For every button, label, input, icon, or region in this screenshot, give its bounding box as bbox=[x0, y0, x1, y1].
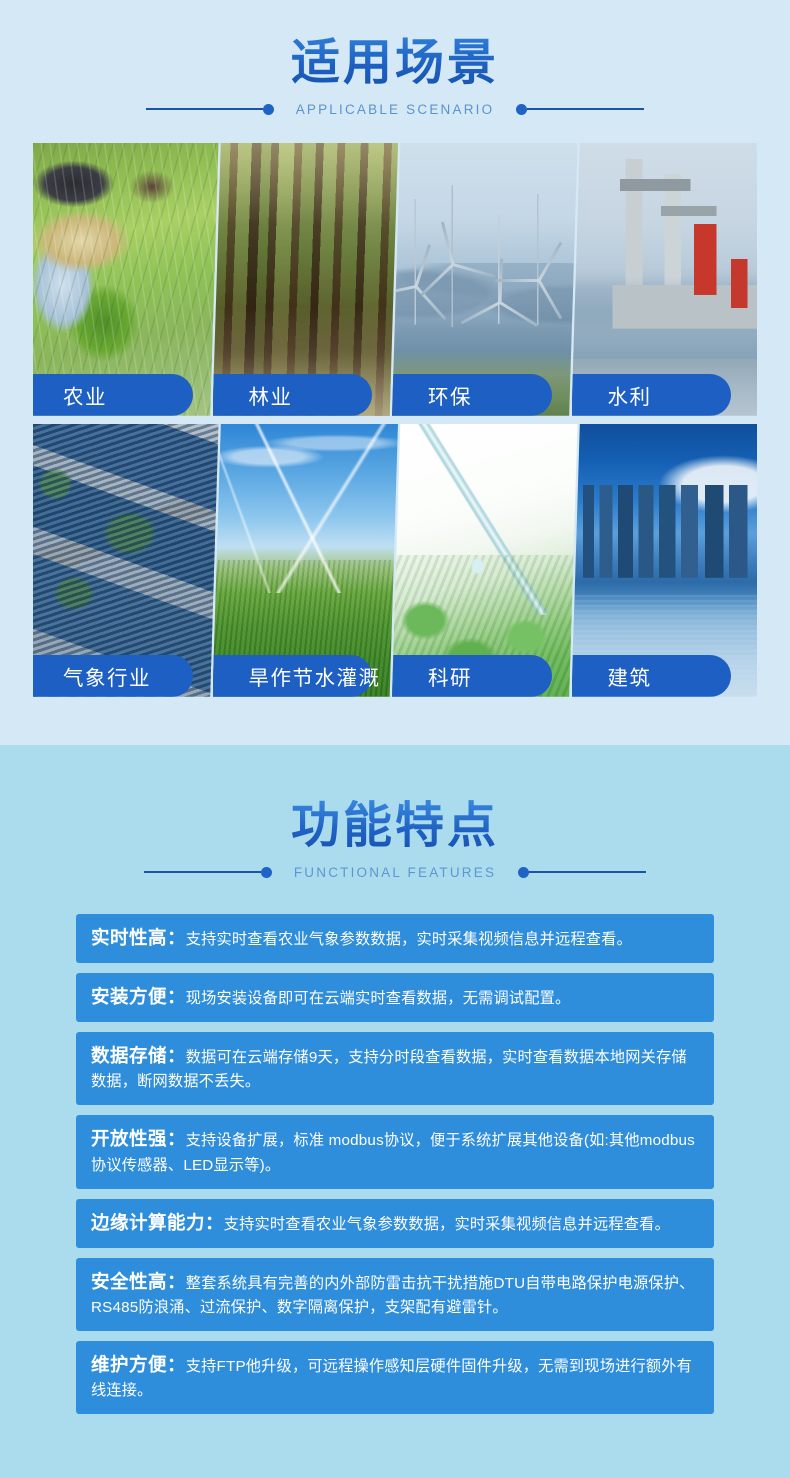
feature-colon: ： bbox=[167, 927, 186, 948]
tile-label-ribbon: 水利 bbox=[572, 374, 732, 416]
feature-item-edge-computing: 边缘计算能力：支持实时查看农业气象参数数据，实时采集视频信息并远程查看。 bbox=[76, 1199, 714, 1248]
turbine-blade bbox=[415, 244, 431, 287]
scenario-heading: 适用场景 APPLICABLE SCENARIO bbox=[0, 34, 790, 117]
promo-page: 适用场景 APPLICABLE SCENARIO 农业 bbox=[0, 0, 790, 1478]
feature-title: 安装方便 bbox=[91, 986, 167, 1007]
decor-dot bbox=[518, 867, 529, 878]
tile-label-ribbon: 环保 bbox=[392, 374, 552, 416]
feature-colon: ： bbox=[167, 986, 186, 1007]
feature-title: 开放性强 bbox=[91, 1128, 167, 1149]
features-title-en: FUNCTIONAL FEATURES bbox=[272, 865, 518, 880]
feature-item-realtime: 实时性高：支持实时查看农业气象参数数据，实时采集视频信息并远程查看。 bbox=[76, 914, 714, 963]
feature-item-safety: 安全性高：整套系统具有完善的内外部防雷击抗干扰措施DTU自带电路保护电源保护、R… bbox=[76, 1258, 714, 1331]
tile-label-ribbon: 林业 bbox=[213, 374, 373, 416]
tile-label-ribbon: 气象行业 bbox=[33, 655, 193, 697]
feature-paragraph: 安装方便：现场安装设备即可在云端实时查看数据，无需调试配置。 bbox=[91, 982, 698, 1011]
feature-title: 安全性高 bbox=[91, 1271, 167, 1292]
turbine-blade bbox=[453, 263, 496, 278]
decor-bar bbox=[527, 108, 644, 110]
scenario-title-cn: 适用场景 bbox=[291, 34, 499, 94]
feature-paragraph: 维护方便：支持FTP他升级，可远程操作感知层硬件固件升级，无需到现场进行额外有线… bbox=[91, 1350, 698, 1403]
decor-dot bbox=[263, 104, 274, 115]
decor-line-right bbox=[518, 867, 646, 878]
turbine-blade-group bbox=[453, 263, 455, 265]
scenario-tile-dryland-irrigation[interactable]: 旱作节水灌溉 bbox=[213, 424, 399, 697]
turbine-blade-group bbox=[539, 279, 541, 281]
feature-colon: ： bbox=[205, 1212, 224, 1233]
scenario-tile-meteorology[interactable]: 气象行业 bbox=[33, 424, 219, 697]
feature-paragraph: 数据存储：数据可在云端存储9天，支持分时段查看数据，实时查看数据本地网关存储数据… bbox=[91, 1041, 698, 1094]
feature-paragraph: 开放性强：支持设备扩展，标准 modbus协议，便于系统扩展其他设备(如:其他m… bbox=[91, 1124, 698, 1177]
decor-line-left bbox=[146, 104, 274, 115]
scenario-tile-row: 气象行业 旱作节水灌溉 科研 bbox=[33, 424, 757, 697]
turbine-blade bbox=[495, 279, 539, 282]
tile-label-text: 农业 bbox=[33, 380, 107, 410]
feature-list: 实时性高：支持实时查看农业气象参数数据，实时采集视频信息并远程查看。 安装方便：… bbox=[76, 914, 714, 1415]
turbine-blade bbox=[392, 285, 416, 297]
feature-colon: ： bbox=[167, 1271, 186, 1292]
tile-label-text: 气象行业 bbox=[33, 661, 151, 691]
turbine-blade bbox=[421, 263, 455, 296]
scenario-tile-row: 农业 林业 bbox=[33, 143, 757, 416]
scenario-subtitle-row: APPLICABLE SCENARIO bbox=[0, 102, 790, 117]
section-functional-features: 功能特点 FUNCTIONAL FEATURES 实时性高：支持实时查看农业气象… bbox=[0, 745, 790, 1478]
decor-bar bbox=[144, 871, 261, 873]
tile-label-ribbon: 科研 bbox=[392, 655, 552, 697]
feature-item-easy-install: 安装方便：现场安装设备即可在云端实时查看数据，无需调试配置。 bbox=[76, 973, 714, 1022]
scenario-tile-environment[interactable]: 环保 bbox=[392, 143, 578, 416]
tile-label-text: 旱作节水灌溉 bbox=[219, 661, 381, 691]
feature-paragraph: 实时性高：支持实时查看农业气象参数数据，实时采集视频信息并远程查看。 bbox=[91, 923, 698, 952]
feature-title: 实时性高 bbox=[91, 927, 167, 948]
tile-label-text: 水利 bbox=[578, 380, 652, 410]
decor-line-left bbox=[144, 867, 272, 878]
feature-body: 支持实时查看农业气象参数数据，实时采集视频信息并远程查看。 bbox=[224, 1216, 670, 1233]
turbine-blade bbox=[537, 242, 562, 282]
tile-label-text: 建筑 bbox=[578, 661, 652, 691]
feature-body: 支持实时查看农业气象参数数据，实时采集视频信息并远程查看。 bbox=[186, 931, 632, 948]
feature-title: 维护方便 bbox=[91, 1354, 167, 1375]
decor-dot bbox=[261, 867, 272, 878]
scenario-tile-water-conservancy[interactable]: 水利 bbox=[572, 143, 758, 416]
scenario-tile-agriculture[interactable]: 农业 bbox=[33, 143, 219, 416]
scenario-tile-research[interactable]: 科研 bbox=[392, 424, 578, 697]
scenario-tile-grid: 农业 林业 bbox=[33, 143, 757, 697]
turbine-blade bbox=[415, 285, 447, 320]
feature-item-maintenance: 维护方便：支持FTP他升级，可远程操作感知层硬件固件升级，无需到现场进行额外有线… bbox=[76, 1341, 714, 1414]
feature-body: 现场安装设备即可在云端实时查看数据，无需调试配置。 bbox=[186, 990, 571, 1007]
section-applicable-scenario: 适用场景 APPLICABLE SCENARIO 农业 bbox=[0, 0, 790, 745]
features-title-cn: 功能特点 bbox=[291, 797, 499, 857]
tile-label-text: 林业 bbox=[219, 380, 293, 410]
feature-paragraph: 边缘计算能力：支持实时查看农业气象参数数据，实时采集视频信息并远程查看。 bbox=[91, 1208, 698, 1237]
decor-bar bbox=[146, 108, 263, 110]
turbine-blade bbox=[460, 301, 500, 324]
turbine-blade bbox=[441, 221, 455, 264]
feature-title: 数据存储 bbox=[91, 1045, 167, 1066]
feature-colon: ： bbox=[167, 1045, 186, 1066]
scenario-title-en: APPLICABLE SCENARIO bbox=[274, 102, 517, 117]
feature-item-openness: 开放性强：支持设备扩展，标准 modbus协议，便于系统扩展其他设备(如:其他m… bbox=[76, 1115, 714, 1188]
tile-label-ribbon: 旱作节水灌溉 bbox=[213, 655, 373, 697]
feature-title: 边缘计算能力 bbox=[91, 1212, 205, 1233]
tile-label-text: 环保 bbox=[398, 380, 472, 410]
features-heading: 功能特点 FUNCTIONAL FEATURES bbox=[0, 797, 790, 880]
scenario-tile-forestry[interactable]: 林业 bbox=[213, 143, 399, 416]
decor-line-right bbox=[516, 104, 644, 115]
tile-label-ribbon: 农业 bbox=[33, 374, 193, 416]
feature-item-data-storage: 数据存储：数据可在云端存储9天，支持分时段查看数据，实时查看数据本地网关存储数据… bbox=[76, 1032, 714, 1105]
turbine-blade bbox=[537, 280, 562, 320]
decor-dot bbox=[516, 104, 527, 115]
feature-colon: ： bbox=[167, 1128, 186, 1149]
features-subtitle-row: FUNCTIONAL FEATURES bbox=[0, 865, 790, 880]
turbine-blade-group bbox=[416, 285, 418, 287]
feature-paragraph: 安全性高：整套系统具有完善的内外部防雷击抗干扰措施DTU自带电路保护电源保护、R… bbox=[91, 1267, 698, 1320]
tile-label-ribbon: 建筑 bbox=[572, 655, 732, 697]
turbine-blade-group bbox=[500, 301, 502, 303]
turbine-blade bbox=[499, 301, 538, 327]
feature-colon: ： bbox=[167, 1354, 186, 1375]
decor-bar bbox=[529, 871, 646, 873]
scenario-tile-construction[interactable]: 建筑 bbox=[572, 424, 758, 697]
tile-label-text: 科研 bbox=[398, 661, 472, 691]
